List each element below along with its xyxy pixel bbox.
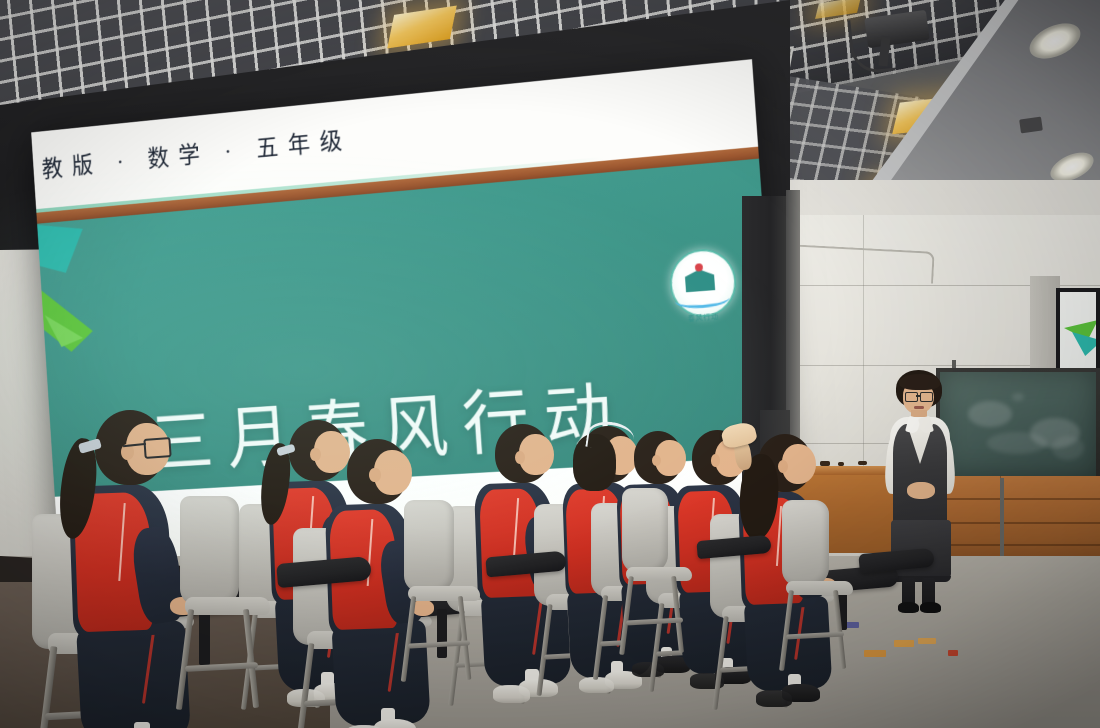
tablet-arm-post xyxy=(437,609,447,658)
student-sock xyxy=(134,722,151,728)
glasses-icon xyxy=(143,437,172,458)
chair-seat xyxy=(786,581,854,595)
student-shoe xyxy=(756,690,792,707)
student-ear xyxy=(369,468,380,483)
classroom-photo: 教版 · 数学 · 五年级 三月春风行动 春风行动 xyxy=(0,0,1100,728)
chair-backrest xyxy=(180,496,239,605)
chair-backrest xyxy=(404,500,454,592)
chair-seat xyxy=(185,597,270,615)
students-and-seating xyxy=(0,0,1100,728)
tablet-arm-post xyxy=(199,607,211,664)
student-ear xyxy=(778,460,788,473)
student-shoe xyxy=(493,685,530,702)
chair-backrest xyxy=(622,488,668,573)
chair-backrest xyxy=(782,500,829,586)
chair-seat xyxy=(408,586,480,601)
chair-seat xyxy=(626,567,692,581)
